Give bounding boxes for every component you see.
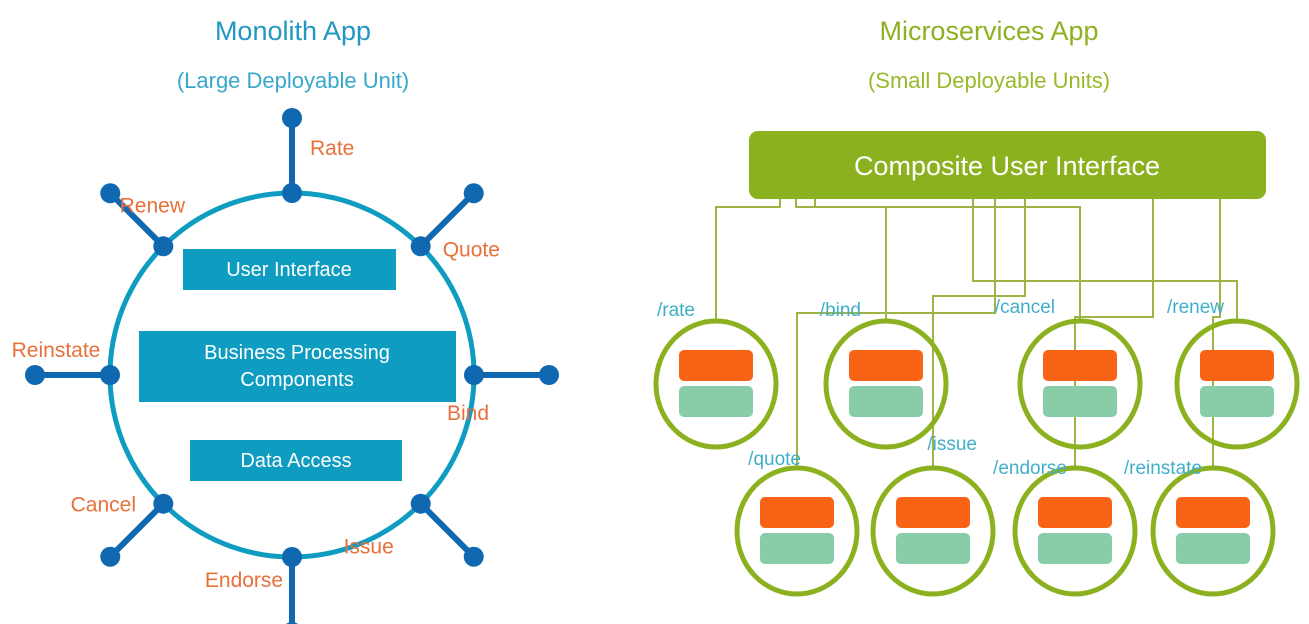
ring-node-issue[interactable] bbox=[411, 494, 431, 514]
monolith-title: Monolith App bbox=[215, 16, 371, 46]
connector-quote bbox=[797, 199, 995, 468]
ring-node-cancel[interactable] bbox=[153, 494, 173, 514]
outer-node-quote[interactable] bbox=[464, 183, 484, 203]
outer-node-cancel[interactable] bbox=[100, 547, 120, 567]
operation-label-endorse: Endorse bbox=[205, 569, 283, 592]
ring-node-quote[interactable] bbox=[411, 236, 431, 256]
service-endorse[interactable] bbox=[1015, 468, 1135, 594]
ring-node-reinstate[interactable] bbox=[100, 365, 120, 385]
operation-label-renew: Renew bbox=[120, 194, 186, 217]
service-renew[interactable] bbox=[1177, 321, 1297, 447]
layer-label-business-processing-line1: Business Processing bbox=[204, 342, 390, 364]
service-connectors bbox=[716, 199, 1237, 468]
outer-node-bind[interactable] bbox=[539, 365, 559, 385]
microservices-subtitle: (Small Deployable Units) bbox=[868, 68, 1110, 93]
ring-node-endorse[interactable] bbox=[282, 547, 302, 567]
service-data-block bbox=[896, 533, 970, 564]
ring-node-rate[interactable] bbox=[282, 183, 302, 203]
composite-user-interface-label: Composite User Interface bbox=[854, 151, 1160, 181]
route-label-cancel: /cancel bbox=[995, 297, 1055, 318]
monolith-panel: Monolith App (Large Deployable Unit) Use… bbox=[0, 0, 660, 624]
outer-node-rate[interactable] bbox=[282, 108, 302, 128]
ring-node-renew[interactable] bbox=[153, 236, 173, 256]
service-data-block bbox=[679, 386, 753, 417]
operation-label-bind: Bind bbox=[447, 402, 489, 425]
connector-rate bbox=[716, 199, 780, 321]
service-cancel[interactable] bbox=[1020, 321, 1140, 447]
service-rate[interactable] bbox=[656, 321, 776, 447]
service-quote[interactable] bbox=[737, 468, 857, 594]
service-ring bbox=[826, 321, 946, 447]
outer-node-reinstate[interactable] bbox=[25, 365, 45, 385]
connector-reinstate bbox=[1213, 199, 1220, 468]
service-data-block bbox=[1038, 533, 1112, 564]
connector-issue bbox=[933, 199, 1025, 468]
service-bind[interactable] bbox=[826, 321, 946, 447]
service-data-block bbox=[1200, 386, 1274, 417]
service-api-block bbox=[679, 350, 753, 381]
service-api-block bbox=[760, 497, 834, 528]
composite-user-interface-bar[interactable]: Composite User Interface bbox=[749, 131, 1266, 199]
diagram-canvas: Monolith App (Large Deployable Unit) Use… bbox=[0, 0, 1309, 624]
outer-node-issue[interactable] bbox=[464, 547, 484, 567]
monolith-subtitle: (Large Deployable Unit) bbox=[177, 68, 409, 93]
layer-label-data-access: Data Access bbox=[240, 450, 351, 472]
monolith-layer-business-processing: Business Processing Components bbox=[139, 331, 456, 402]
outer-node-renew[interactable] bbox=[100, 183, 120, 203]
service-data-block bbox=[1043, 386, 1117, 417]
layer-label-business-processing-line2: Components bbox=[240, 369, 353, 391]
route-label-endorse: /endorse bbox=[993, 458, 1067, 479]
service-ring bbox=[1177, 321, 1297, 447]
service-api-block bbox=[1043, 350, 1117, 381]
operation-label-reinstate: Reinstate bbox=[12, 339, 101, 362]
service-ring bbox=[656, 321, 776, 447]
service-api-block bbox=[1200, 350, 1274, 381]
service-data-block bbox=[849, 386, 923, 417]
microservices-title: Microservices App bbox=[879, 16, 1098, 46]
operation-label-rate: Rate bbox=[310, 137, 354, 160]
operation-label-issue: Issue bbox=[344, 536, 394, 559]
service-data-block bbox=[1176, 533, 1250, 564]
monolith-layer-user-interface: User Interface bbox=[183, 249, 396, 290]
service-ring bbox=[1153, 468, 1273, 594]
service-api-block bbox=[896, 497, 970, 528]
route-label-reinstate: /reinstate bbox=[1124, 458, 1202, 479]
service-ring bbox=[737, 468, 857, 594]
route-label-quote: /quote bbox=[748, 449, 801, 470]
service-api-block bbox=[1176, 497, 1250, 528]
service-api-block bbox=[1038, 497, 1112, 528]
service-ring bbox=[1020, 321, 1140, 447]
operation-label-quote: Quote bbox=[443, 238, 500, 261]
layer-label-user-interface: User Interface bbox=[226, 259, 352, 281]
route-label-rate: /rate bbox=[657, 300, 695, 321]
operation-label-cancel: Cancel bbox=[71, 494, 136, 517]
microservices-panel: Microservices App (Small Deployable Unit… bbox=[649, 0, 1309, 624]
ring-node-bind[interactable] bbox=[464, 365, 484, 385]
route-label-bind: /bind bbox=[820, 300, 861, 321]
service-issue[interactable] bbox=[873, 468, 993, 594]
service-ring bbox=[873, 468, 993, 594]
service-reinstate[interactable] bbox=[1153, 468, 1273, 594]
route-label-issue: /issue bbox=[927, 434, 977, 455]
service-api-block bbox=[849, 350, 923, 381]
route-label-renew: /renew bbox=[1167, 297, 1224, 318]
monolith-layer-data-access: Data Access bbox=[190, 440, 402, 481]
service-ring bbox=[1015, 468, 1135, 594]
service-data-block bbox=[760, 533, 834, 564]
